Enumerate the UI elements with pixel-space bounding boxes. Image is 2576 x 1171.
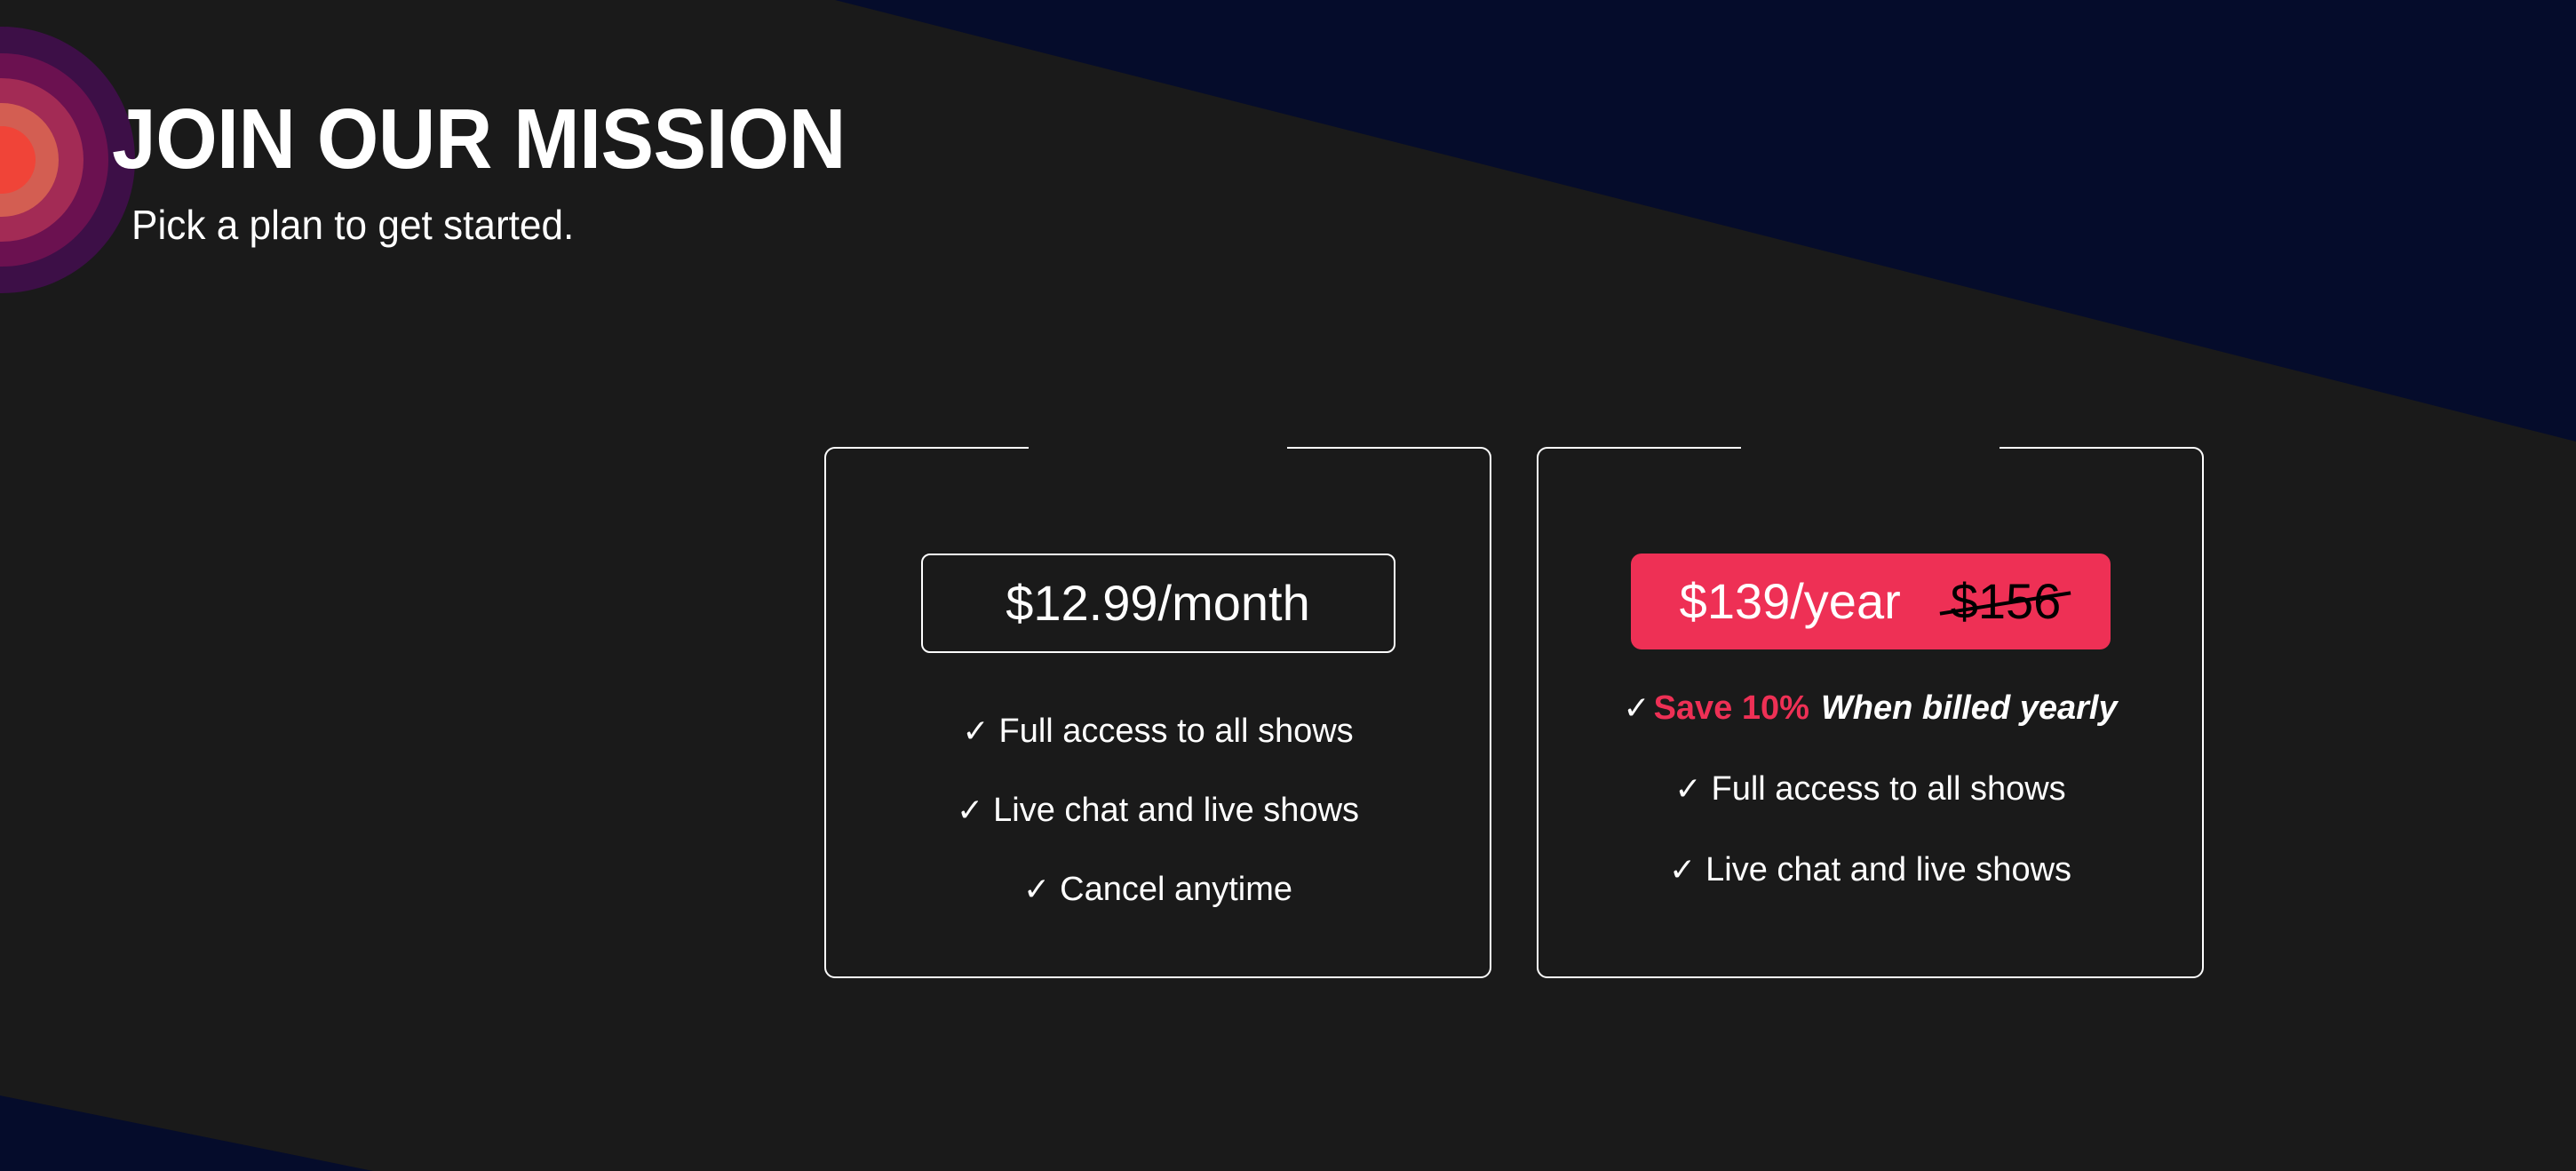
list-item: ✓ Full access to all shows: [1674, 771, 2065, 809]
ring-2: [0, 53, 108, 267]
check-icon: ✓: [962, 713, 989, 749]
yearly-price-button[interactable]: $139/year $156: [1631, 554, 2111, 649]
pricing-page: JOIN OUR MISSION Pick a plan to get star…: [0, 0, 2576, 1171]
page-subtitle: Pick a plan to get started.: [131, 203, 870, 248]
page-title: JOIN OUR MISSION: [112, 96, 846, 183]
list-item: ✓ Live chat and live shows: [1669, 852, 2071, 889]
check-icon: ✓: [1669, 852, 1696, 888]
ring-4: [0, 103, 59, 217]
feature-label: Live chat and live shows: [993, 793, 1359, 830]
navy-triangle-bottom-shape: [0, 1055, 373, 1171]
savings-label: Save 10%: [1654, 690, 1809, 728]
check-icon: ✓: [1023, 872, 1050, 907]
feature-label: Live chat and live shows: [1705, 852, 2071, 889]
plan-card-monthly[interactable]: $12.99/month ✓ Full access to all shows …: [824, 447, 1491, 978]
yearly-price-original-struck: $156: [1951, 577, 2062, 626]
plan-card-yearly[interactable]: $139/year $156 ✓ Save 10% When billed ye…: [1537, 447, 2204, 978]
monthly-price-button[interactable]: $12.99/month: [921, 554, 1395, 653]
yearly-price-current: $139/year: [1680, 577, 1901, 626]
check-icon: ✓: [957, 793, 983, 828]
ring-core: [0, 126, 36, 194]
yearly-feature-list: ✓ Save 10% When billed yearly ✓ Full acc…: [1538, 690, 2202, 888]
list-item: ✓ Cancel anytime: [1023, 872, 1292, 909]
page-header: JOIN OUR MISSION Pick a plan to get star…: [112, 96, 901, 248]
feature-label: Cancel anytime: [1060, 872, 1292, 909]
navy-diagonal-top-shape: [835, 0, 2576, 444]
check-icon: ✓: [1623, 690, 1650, 726]
feature-label: Full access to all shows: [1712, 771, 2066, 809]
list-item: ✓ Full access to all shows: [962, 713, 1353, 751]
savings-note: When billed yearly: [1821, 690, 2118, 728]
ring-3: [0, 78, 83, 242]
monthly-feature-list: ✓ Full access to all shows ✓ Live chat a…: [826, 713, 1490, 908]
feature-label: Full access to all shows: [999, 713, 1354, 751]
list-item-savings: ✓ Save 10% When billed yearly: [1623, 690, 2117, 728]
list-item: ✓ Live chat and live shows: [957, 793, 1359, 830]
plan-card-group: $12.99/month ✓ Full access to all shows …: [824, 447, 2204, 978]
yearly-price-slot: $139/year $156: [1631, 554, 2111, 649]
check-icon: ✓: [1674, 771, 1701, 807]
monthly-price-slot: $12.99/month: [921, 554, 1395, 653]
